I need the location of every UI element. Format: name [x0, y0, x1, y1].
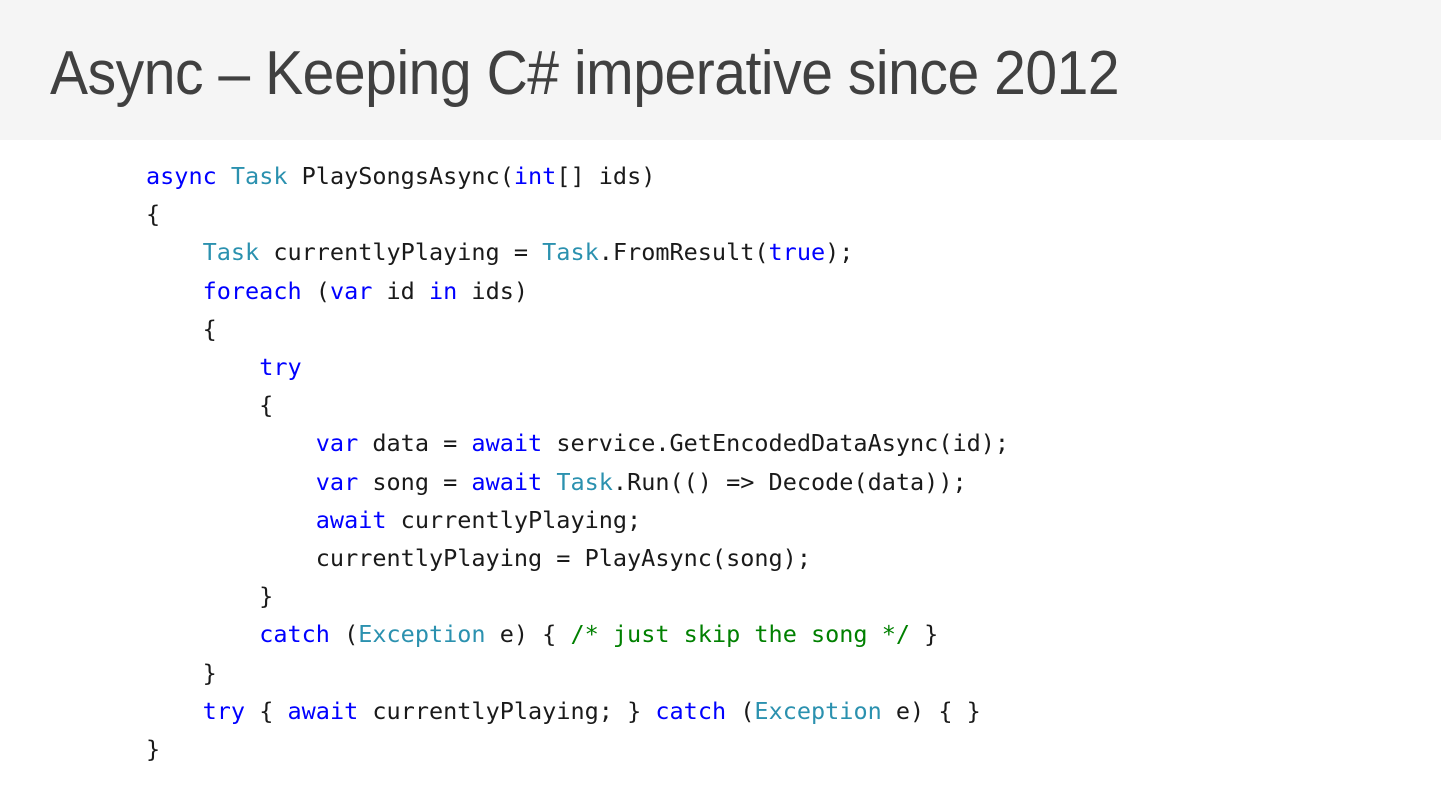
code-token-plain: ids) — [457, 277, 528, 305]
code-token-comment: /* just skip the song */ — [570, 620, 910, 648]
code-token-keyword: async — [146, 162, 217, 190]
code-token-plain — [146, 353, 259, 381]
code-block: async Task PlaySongsAsync(int[] ids){ Ta… — [146, 157, 1009, 768]
code-token-plain: } — [146, 659, 217, 687]
code-token-plain: currentlyPlaying; } — [358, 697, 655, 725]
code-token-keyword: try — [259, 353, 301, 381]
code-line: { — [146, 195, 1009, 233]
code-line: foreach (var id in ids) — [146, 272, 1009, 310]
code-token-plain: song = — [358, 468, 471, 496]
code-token-plain: data = — [358, 429, 471, 457]
code-token-type: Task — [203, 238, 260, 266]
code-token-plain — [146, 697, 203, 725]
code-token-plain: { — [146, 200, 160, 228]
code-token-plain: } — [910, 620, 938, 648]
code-token-keyword: await — [316, 506, 387, 534]
code-token-keyword: catch — [259, 620, 330, 648]
code-token-plain: .Run(() => Decode(data)); — [613, 468, 967, 496]
code-token-plain: .FromResult( — [599, 238, 769, 266]
code-token-keyword: in — [429, 277, 457, 305]
code-token-keyword: await — [471, 468, 542, 496]
code-line: { — [146, 386, 1009, 424]
code-token-plain: } — [146, 582, 273, 610]
code-token-plain — [146, 277, 203, 305]
code-token-plain: id — [372, 277, 429, 305]
code-line: var song = await Task.Run(() => Decode(d… — [146, 463, 1009, 501]
code-token-keyword: true — [769, 238, 826, 266]
code-token-plain — [217, 162, 231, 190]
code-token-plain: [] ids) — [556, 162, 655, 190]
code-line: try { await currentlyPlaying; } catch (E… — [146, 692, 1009, 730]
code-line: Task currentlyPlaying = Task.FromResult(… — [146, 233, 1009, 271]
code-line: } — [146, 730, 1009, 768]
code-token-plain: e) { } — [882, 697, 981, 725]
code-line: currentlyPlaying = PlayAsync(song); — [146, 539, 1009, 577]
code-token-plain: ( — [302, 277, 330, 305]
code-token-plain: { — [146, 315, 217, 343]
code-token-type: Exception — [358, 620, 485, 648]
code-token-type: Task — [542, 238, 599, 266]
page-title: Async – Keeping C# imperative since 2012 — [50, 41, 1119, 107]
code-token-plain: currentlyPlaying = — [259, 238, 542, 266]
code-token-plain: { — [146, 391, 273, 419]
code-token-plain: currentlyPlaying; — [387, 506, 642, 534]
code-token-plain — [146, 506, 316, 534]
code-token-keyword: foreach — [203, 277, 302, 305]
code-line: { — [146, 310, 1009, 348]
code-line: } — [146, 577, 1009, 615]
code-token-plain: ( — [726, 697, 754, 725]
code-token-plain: currentlyPlaying = PlayAsync(song); — [146, 544, 811, 572]
code-token-plain: ); — [825, 238, 853, 266]
code-line: try — [146, 348, 1009, 386]
code-token-plain: ( — [330, 620, 358, 648]
slide: Async – Keeping C# imperative since 2012… — [0, 0, 1441, 811]
code-token-keyword: try — [203, 697, 245, 725]
code-token-plain — [146, 468, 316, 496]
code-token-keyword: var — [316, 429, 358, 457]
code-token-plain — [146, 429, 316, 457]
code-line: } — [146, 654, 1009, 692]
code-token-plain: service.GetEncodedDataAsync(id); — [542, 429, 1009, 457]
code-token-keyword: var — [330, 277, 372, 305]
code-token-type: Task — [231, 162, 288, 190]
code-token-plain — [146, 238, 203, 266]
code-token-type: Exception — [754, 697, 881, 725]
code-token-plain: { — [245, 697, 287, 725]
code-token-plain: } — [146, 735, 160, 763]
code-token-keyword: catch — [655, 697, 726, 725]
code-token-plain: PlaySongsAsync( — [288, 162, 514, 190]
slide-title-band: Async – Keeping C# imperative since 2012 — [0, 0, 1441, 140]
code-token-plain — [542, 468, 556, 496]
code-line: async Task PlaySongsAsync(int[] ids) — [146, 157, 1009, 195]
code-line: var data = await service.GetEncodedDataA… — [146, 424, 1009, 462]
code-token-plain: e) { — [486, 620, 571, 648]
code-line: catch (Exception e) { /* just skip the s… — [146, 615, 1009, 653]
code-line: await currentlyPlaying; — [146, 501, 1009, 539]
code-token-plain — [146, 620, 259, 648]
code-token-keyword: var — [316, 468, 358, 496]
code-token-keyword: int — [514, 162, 556, 190]
code-token-keyword: await — [288, 697, 359, 725]
code-token-type: Task — [556, 468, 613, 496]
code-token-keyword: await — [471, 429, 542, 457]
